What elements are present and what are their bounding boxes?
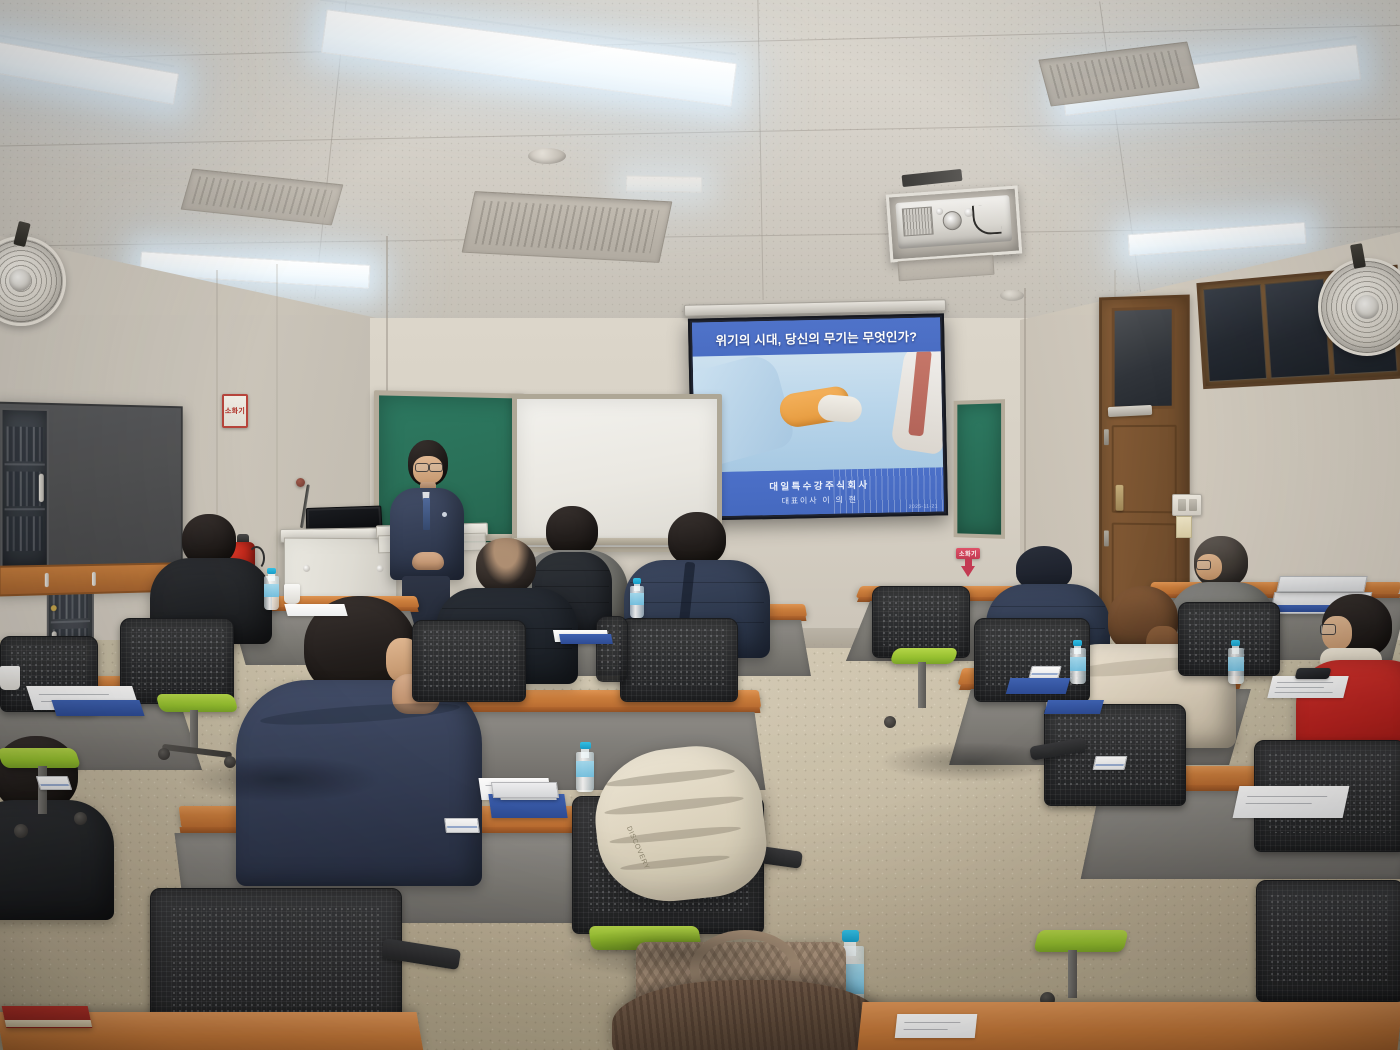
- document-sheet: [1267, 676, 1348, 698]
- direction-arrow-head: [961, 566, 975, 577]
- bottle-cap: [633, 578, 641, 584]
- water-bottle[interactable]: [1228, 640, 1244, 684]
- presenter-glasses: [415, 463, 429, 472]
- bottle-label: [1228, 657, 1244, 671]
- name-card-strip: [40, 784, 69, 786]
- water-bottle[interactable]: [630, 578, 644, 618]
- attendee-head: [476, 538, 536, 594]
- red-book[interactable]: [2, 1006, 93, 1028]
- chair-mesh: [630, 627, 727, 688]
- name-card-strip: [1095, 764, 1123, 766]
- chair-backrest: [120, 618, 234, 704]
- paper-text-line: [1247, 796, 1327, 797]
- chair-post: [190, 710, 198, 750]
- slide-presenter-name: 대표이사 이 의 현: [782, 494, 858, 507]
- ceiling-vent-1: [462, 191, 673, 263]
- floor-shadow: [560, 926, 800, 980]
- chair-back-right[interactable]: [872, 586, 968, 656]
- paper-text-line: [1276, 687, 1324, 688]
- chair-seat[interactable]: [1033, 930, 1128, 952]
- chair-backrest: [412, 620, 526, 702]
- projector-vent-grille: [902, 207, 934, 237]
- water-bottle[interactable]: [576, 742, 594, 792]
- paper-text-line: [1277, 682, 1333, 683]
- bottle-label: [1070, 657, 1086, 671]
- chair-post: [1068, 950, 1077, 998]
- bottle-cap: [1231, 640, 1240, 646]
- cabinet-shelf: [5, 463, 45, 465]
- bottle-neck: [1074, 645, 1081, 654]
- blue-folder[interactable]: [559, 634, 613, 644]
- light-switch-panel[interactable]: [1172, 494, 1202, 516]
- document-sheet: [284, 604, 347, 616]
- bottle-neck: [1232, 645, 1239, 654]
- chair-caster: [74, 812, 87, 825]
- document-sheet: [1233, 786, 1350, 818]
- chair-left-back[interactable]: [120, 618, 232, 702]
- switch-label-tag: [1176, 516, 1192, 538]
- microphone-head: [296, 478, 305, 487]
- slide-title-text: 위기의 시대, 당신의 무기는 무엇인가?: [715, 325, 917, 348]
- name-card-holder: [36, 776, 73, 790]
- chair-post: [918, 662, 926, 708]
- slide-handshake-image: [693, 351, 943, 472]
- chair-partial-back[interactable]: [596, 616, 626, 680]
- document-sheet: [895, 1014, 978, 1038]
- cabinet-shelf: [5, 508, 45, 510]
- book-page-edge: [5, 1020, 92, 1027]
- slide-date-text: 2025-11-21: [909, 504, 938, 511]
- fan-hub: [9, 269, 31, 291]
- door-window: [1112, 306, 1175, 409]
- bottle-neck: [268, 573, 275, 581]
- chair-caster: [158, 748, 170, 760]
- presentation-slide: 위기의 시대, 당신의 무기는 무엇인가? 대일특수강주식회사 대표이사 이 의…: [692, 317, 944, 516]
- cabinet-base-handle[interactable]: [92, 572, 96, 586]
- paper-text-line: [904, 1022, 960, 1023]
- slide-title-band: 위기의 시대, 당신의 무기는 무엇인가?: [692, 317, 941, 356]
- name-card-holder: [444, 818, 480, 833]
- paper-text-line: [1246, 803, 1312, 804]
- floor-shadow: [880, 742, 1060, 782]
- attendee-dark-jacket: [0, 800, 114, 920]
- paper-text-line: [1275, 692, 1333, 693]
- fan-hub: [1355, 295, 1379, 319]
- lectern-fastener: [303, 565, 310, 572]
- smoke-detector: [1000, 290, 1024, 301]
- water-bottle[interactable]: [264, 568, 279, 610]
- bottle-cap: [267, 568, 276, 574]
- door-hinge: [1104, 530, 1109, 546]
- bottle-cap: [1073, 640, 1082, 646]
- classroom-photo: 위기의 시대, 당신의 무기는 무엇인가? 대일특수강주식회사 대표이사 이 의…: [0, 0, 1400, 1050]
- extinguisher-direction-badge: 소화기: [956, 548, 980, 559]
- bottle-label: [630, 593, 644, 605]
- blue-folder[interactable]: [1006, 678, 1071, 694]
- document-box: [1276, 576, 1367, 592]
- bottle-neck: [581, 748, 589, 758]
- cabinet-shelf: [51, 620, 90, 623]
- chair-mesh: [422, 629, 516, 688]
- name-card-strip: [1031, 673, 1057, 675]
- floor-shadow: [180, 756, 380, 802]
- paper-cup[interactable]: [284, 584, 300, 604]
- coat-quilt-seam: [604, 793, 744, 818]
- extinguisher-direction-label: 소화기: [959, 549, 977, 558]
- chair-center-back[interactable]: [412, 620, 524, 700]
- extinguisher-wall-sign: 소화기: [222, 394, 248, 428]
- attendee-head: [668, 512, 726, 566]
- chair-front-right-corner[interactable]: [1256, 880, 1400, 1000]
- chair-caster: [884, 716, 896, 728]
- presenter-glasses: [429, 463, 443, 472]
- recessed-light-6: [626, 175, 702, 192]
- ceiling-projector-housing: [886, 185, 1022, 262]
- paper-text-line: [39, 694, 109, 695]
- slide-photo-hand-second: [817, 394, 863, 424]
- presenter-necktie: [423, 498, 430, 530]
- slide-footer: 대일특수강주식회사 대표이사 이 의 현 2025-11-21: [695, 467, 944, 516]
- vent-slats: [191, 176, 332, 217]
- smartphone[interactable]: [1295, 668, 1332, 679]
- foreground-fur-item: [612, 980, 882, 1050]
- vent-slats: [1049, 49, 1189, 98]
- chair-backrest: [596, 616, 628, 682]
- blue-folder[interactable]: [51, 700, 144, 716]
- transom-pane: [1203, 284, 1267, 382]
- chair-backrest: [1044, 704, 1186, 806]
- blue-folder[interactable]: [1044, 700, 1104, 714]
- chair-center[interactable]: [620, 618, 736, 700]
- chair-post: [38, 766, 47, 814]
- cabinet-books: [7, 516, 43, 551]
- cabinet-books: [7, 426, 43, 461]
- bottle-neck: [634, 583, 640, 591]
- light-switch-key[interactable]: [1178, 499, 1186, 511]
- puffer-quilt-seam: [630, 582, 764, 583]
- puffer-quilt-seam: [630, 602, 764, 603]
- door-handle[interactable]: [1116, 485, 1124, 511]
- light-switch-key[interactable]: [1189, 499, 1197, 511]
- chair-caster: [14, 824, 28, 838]
- chair-seat[interactable]: [0, 748, 81, 768]
- paper-stack: [491, 782, 559, 798]
- bottle-label: [576, 761, 594, 777]
- bottle-cap: [842, 930, 859, 942]
- smoke-detector: [528, 148, 566, 164]
- chair-backrest: [620, 618, 738, 702]
- paper-text-line: [904, 1029, 948, 1030]
- door-hinge: [1104, 429, 1109, 445]
- vent-slats: [474, 201, 659, 254]
- chair-backrest: [1256, 880, 1400, 1002]
- name-card-holder: [1093, 756, 1128, 770]
- slide-company-name: 대일특수강주식회사: [769, 477, 870, 493]
- bottle-label: [264, 584, 279, 597]
- name-card-strip: [447, 826, 477, 828]
- water-bottle[interactable]: [1070, 640, 1086, 684]
- chair-mesh: [881, 594, 962, 646]
- attendee-glasses: [1196, 560, 1211, 570]
- chair-mesh: [1269, 893, 1392, 982]
- projection-screen: 위기의 시대, 당신의 무기는 무엇인가? 대일특수강주식회사 대표이사 이 의…: [688, 313, 948, 520]
- cabinet-handle[interactable]: [39, 474, 44, 502]
- monitor-screen: [309, 508, 380, 528]
- cabinet-base-handle[interactable]: [45, 573, 49, 587]
- cabinet-door[interactable]: [0, 408, 48, 568]
- attendee-glasses: [1320, 624, 1336, 635]
- bottle-cap: [580, 742, 591, 749]
- green-chalkboard-right: [954, 399, 1005, 539]
- extinguisher-direction-sign: 소화기: [956, 548, 980, 577]
- cabinet-books: [7, 471, 43, 506]
- paper-cup[interactable]: [0, 666, 20, 690]
- coat-quilt-seam: [605, 766, 735, 790]
- extinguisher-sign-label: 소화기: [225, 406, 245, 416]
- presenter-lapel-pin: [442, 512, 447, 517]
- chair-mesh: [130, 627, 224, 689]
